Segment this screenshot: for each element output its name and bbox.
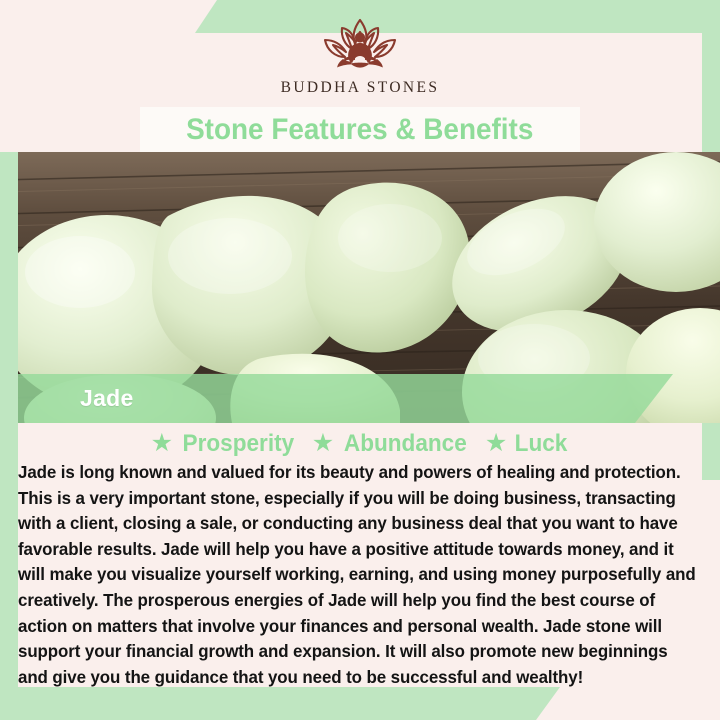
stone-name-badge: Jade — [18, 374, 673, 423]
benefit-label: Abundance — [344, 430, 467, 458]
title-banner: Stone Features & Benefits — [140, 107, 580, 152]
benefit-item: ★ Abundance — [312, 430, 471, 458]
star-icon: ★ — [312, 431, 334, 456]
benefit-item: ★ Prosperity — [151, 430, 298, 458]
stone-description: Jade is long known and valued for its be… — [18, 460, 698, 690]
page-title: Stone Features & Benefits — [186, 113, 533, 147]
star-icon: ★ — [485, 431, 507, 456]
stone-name: Jade — [80, 385, 134, 412]
brand-name: BUDDHA STONES — [281, 79, 440, 97]
lotus-meditation-icon — [294, 14, 426, 78]
brand-logo: BUDDHA STONES — [0, 14, 720, 106]
decorative-corner-bottom-left — [0, 687, 560, 720]
star-icon: ★ — [151, 431, 173, 456]
stone-info-card: BUDDHA STONES Stone Features & Benefits — [0, 0, 720, 720]
decorative-edge-left — [0, 152, 18, 720]
benefit-label: Luck — [515, 430, 568, 458]
benefit-label: Prosperity — [183, 430, 295, 458]
benefit-item: ★ Luck — [485, 430, 569, 458]
benefits-row: ★ Prosperity ★ Abundance ★ Luck — [0, 430, 720, 458]
